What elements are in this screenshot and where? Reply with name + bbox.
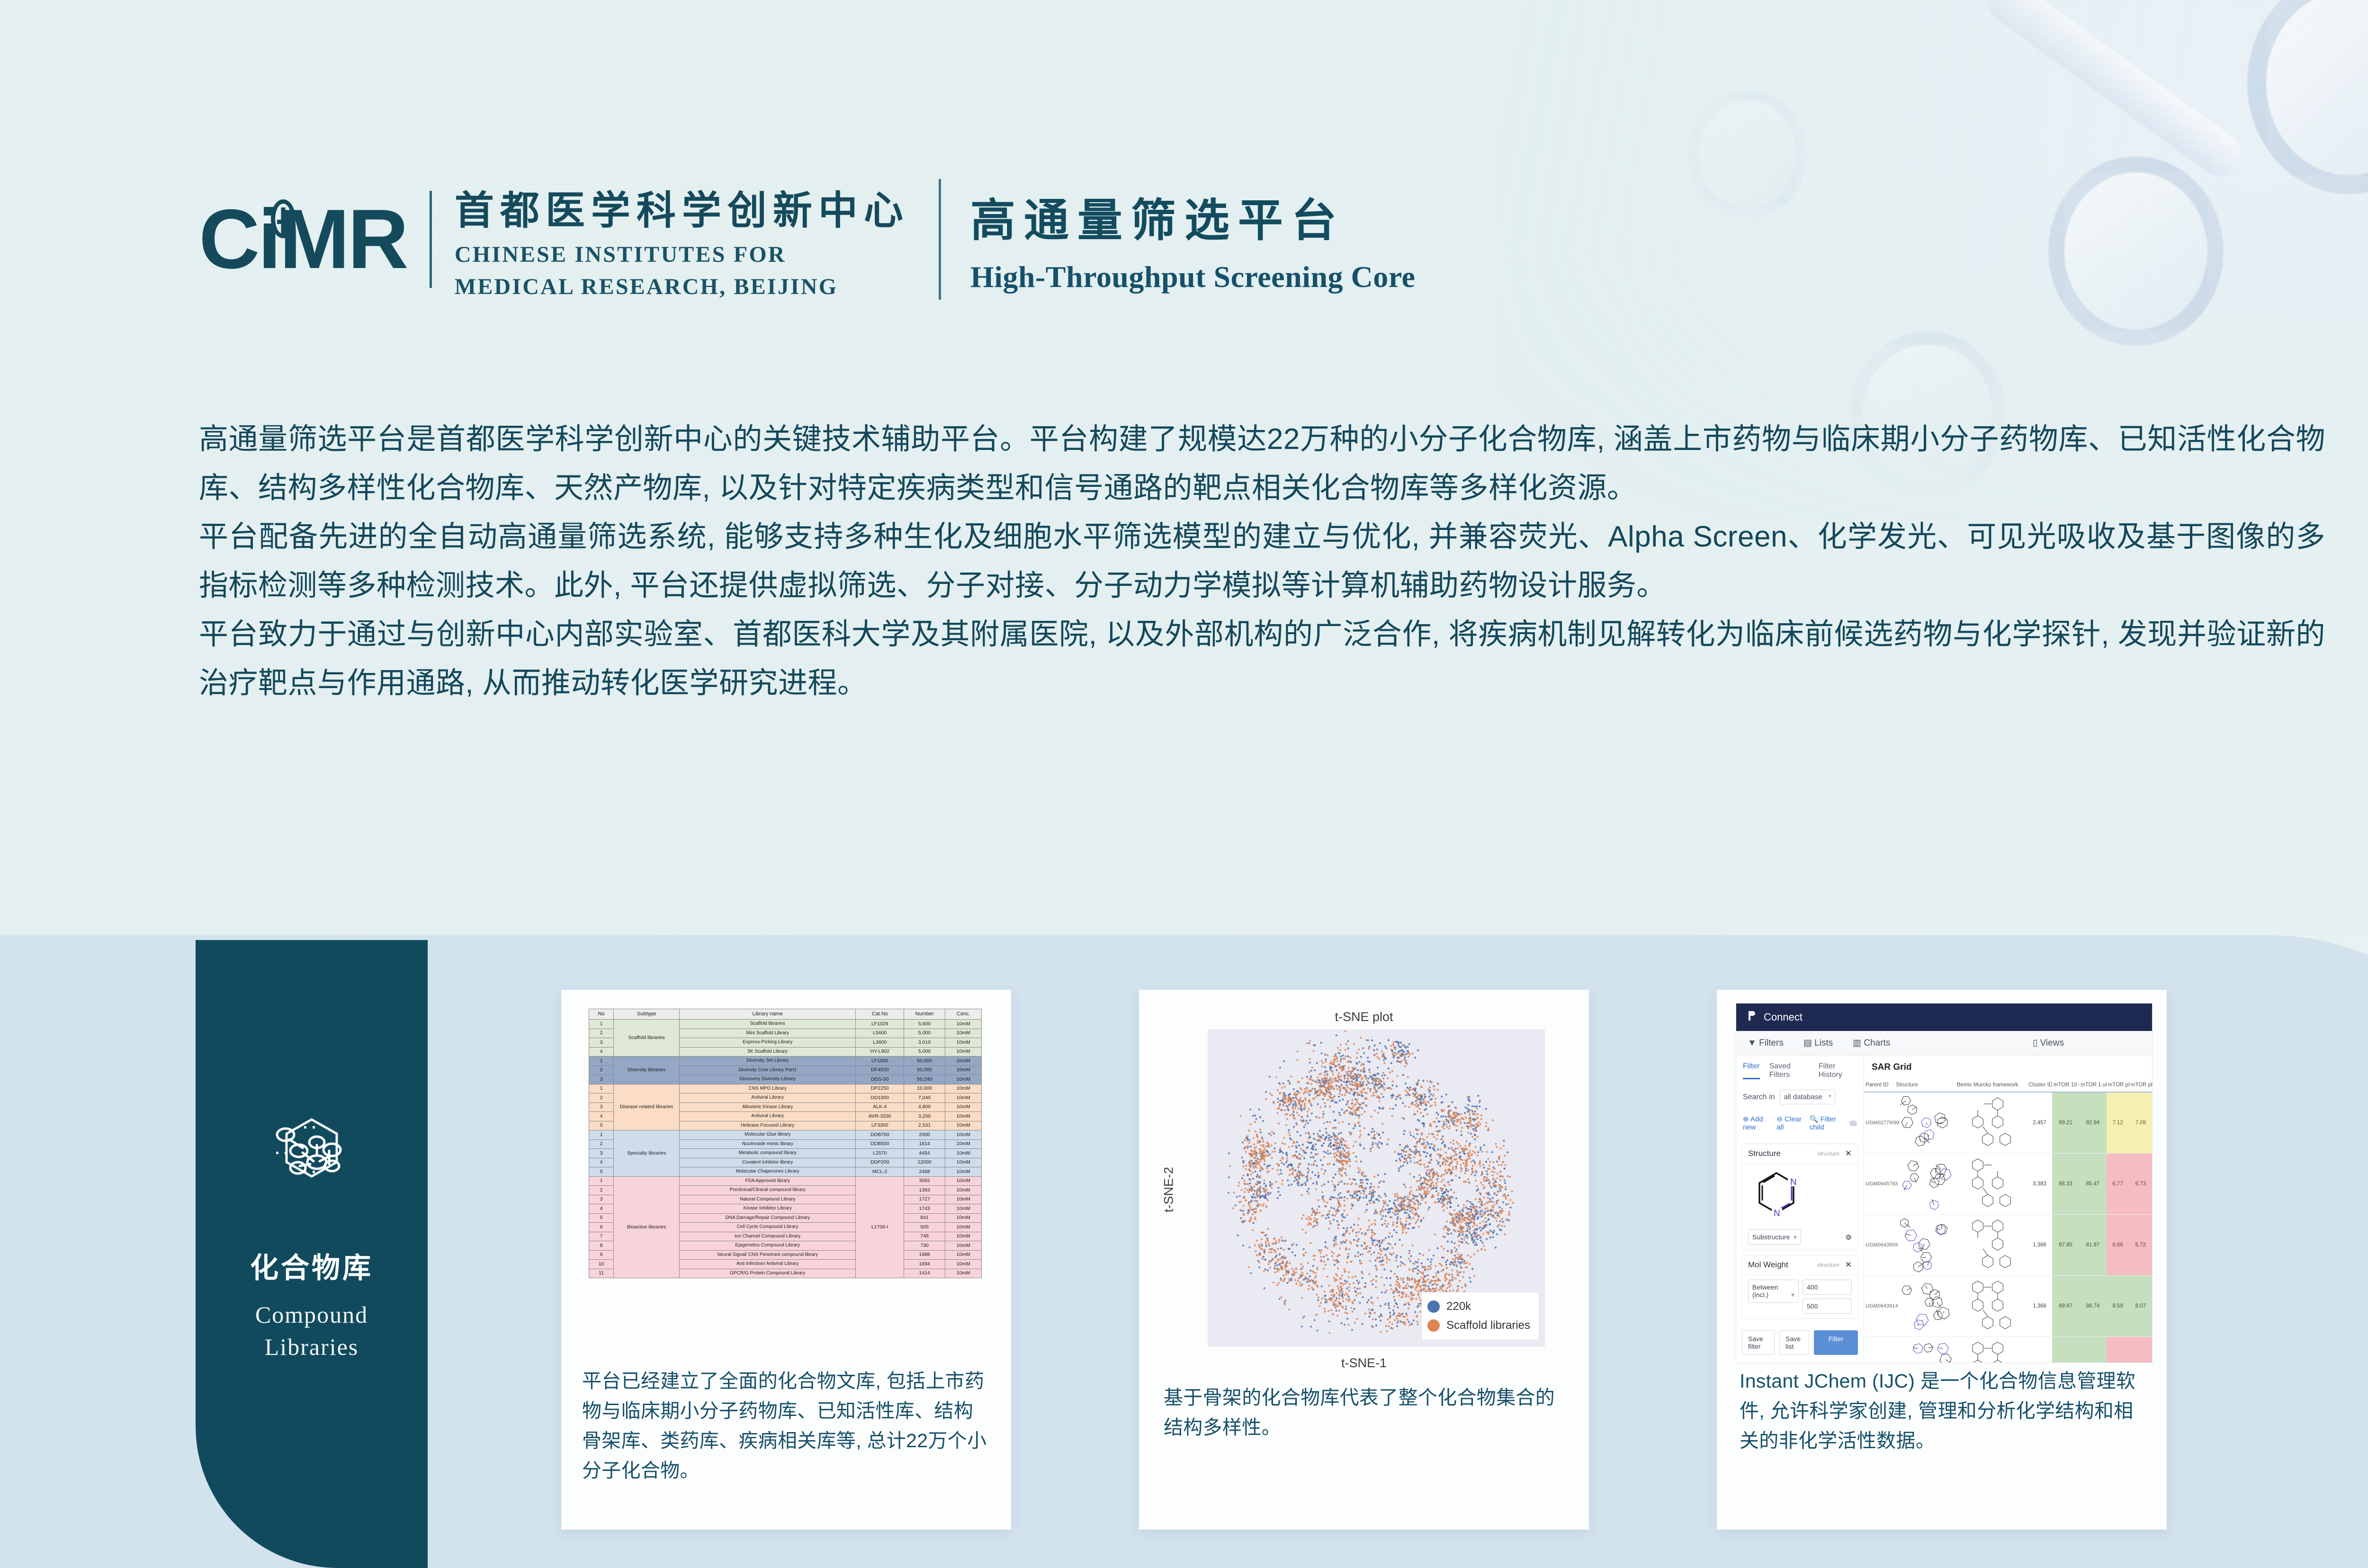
table-cell: Epigenetics Compound Library bbox=[680, 1241, 856, 1251]
table-cell: 2 bbox=[589, 1186, 614, 1195]
sar-cell-mtor10: 97.85 bbox=[2052, 1215, 2079, 1276]
close-icon[interactable]: ✕ bbox=[1845, 1149, 1852, 1158]
molecule-hexagon-icon bbox=[257, 1112, 366, 1204]
table-cell: Kinase Inhibitor Library bbox=[680, 1204, 856, 1214]
table-col-0: No bbox=[589, 1009, 614, 1020]
chart-title: t-SNE plot bbox=[1175, 1010, 1553, 1024]
gear-icon[interactable]: ⚙ bbox=[1846, 1233, 1852, 1242]
table-cell: 10mM bbox=[945, 1167, 982, 1177]
app-name-label: Connect bbox=[1764, 1011, 1803, 1023]
institute-name-en-line1: CHINESE INSTITUTES FOR bbox=[455, 242, 909, 268]
sar-cell-structure bbox=[1894, 1215, 1955, 1276]
table-cell: 4 bbox=[589, 1204, 614, 1214]
table-cell: 10mM bbox=[945, 1130, 982, 1140]
cimr-logo: CiMR 首都医学科学创新中心 CHINESE INSTITUTES FOR M… bbox=[199, 179, 909, 300]
table-cell: 10mM bbox=[945, 1112, 982, 1121]
page-header: CiMR 首都医学科学创新中心 CHINESE INSTITUTES FOR M… bbox=[199, 168, 1415, 310]
filter-buttons: Save filter Save list Filter bbox=[1736, 1324, 1864, 1362]
svg-text:N: N bbox=[1790, 1177, 1797, 1187]
platform-title-cn: 高通量筛选平台 bbox=[970, 184, 1416, 249]
views-device-icon: ▯ bbox=[2033, 1038, 2040, 1048]
table-cell: 10mM bbox=[945, 1121, 982, 1130]
table-cell: 50,240 bbox=[904, 1075, 945, 1084]
app-toolbar: ▼ Filters ▤ Lists ▥ Charts ▯ Views bbox=[1736, 1031, 2152, 1056]
chevron-down-icon: ▾ bbox=[1791, 1291, 1794, 1299]
table-cell: Scaffold libraries bbox=[614, 1020, 680, 1057]
sar-cell-pki: 6.73 bbox=[2129, 1154, 2152, 1215]
table-cell: 10mM bbox=[945, 1057, 982, 1066]
table-cell: LF3300 bbox=[856, 1121, 904, 1130]
table-cell: L5600 bbox=[856, 1029, 904, 1038]
table-cell: 1 bbox=[589, 1057, 614, 1066]
table-cell: Diversity Core Library Part1 bbox=[680, 1066, 856, 1075]
add-new-label: Add new bbox=[1743, 1115, 1763, 1131]
structure-filter-title: Structure bbox=[1748, 1149, 1781, 1158]
structure-mode-value: Substructure bbox=[1752, 1233, 1790, 1241]
sar-cell-structure bbox=[1894, 1276, 1955, 1337]
sar-col-2: Bemis Murcko framework bbox=[1955, 1078, 2027, 1092]
table-cell: Natural Compound Library bbox=[680, 1195, 856, 1204]
table-cell: 5K Scaffold Library bbox=[680, 1047, 856, 1057]
table-cell: 4 bbox=[589, 1158, 614, 1167]
table-cell: 50,000 bbox=[904, 1057, 945, 1066]
table-cell: 8 bbox=[589, 1241, 614, 1251]
filter-funnel-icon: ▼ bbox=[1748, 1038, 1759, 1048]
table-cell: Ion Channel Compound Library bbox=[680, 1232, 856, 1241]
table-cell: HY-L902 bbox=[856, 1047, 904, 1057]
sar-cell-pki: 6.72 bbox=[2129, 1215, 2152, 1276]
structure-mode-row: Substructure ▾ ⚙ bbox=[1742, 1225, 1857, 1250]
table-cell: 10mM bbox=[945, 1232, 982, 1241]
sar-cell-structure bbox=[1894, 1337, 1955, 1363]
sar-grid-row[interactable]: UGM06431702,37693.2465.076.386.26 bbox=[1864, 1337, 2152, 1363]
structure-filter-type: structure bbox=[1817, 1150, 1839, 1157]
table-cell: 841 bbox=[904, 1213, 945, 1223]
sar-cell-parent-id: UGM0945783 bbox=[1864, 1154, 1894, 1215]
molweight-operator-value: Between (incl.) bbox=[1752, 1283, 1778, 1299]
toolbar-label-filters: Filters bbox=[1759, 1038, 1784, 1048]
table-cell: Molecular Glue library bbox=[680, 1130, 856, 1140]
table-cell: 2 bbox=[589, 1093, 614, 1103]
table-cell: 730 bbox=[904, 1241, 945, 1251]
table-cell: 4,800 bbox=[904, 1102, 945, 1112]
sidebar-title-en-line1: Compound bbox=[255, 1299, 368, 1331]
table-cell: 10mM bbox=[945, 1195, 982, 1204]
app-title-bar: Connect bbox=[1736, 1004, 2152, 1031]
sar-cell-pic5: 7.12 bbox=[2107, 1092, 2129, 1154]
sar-col-7: mTOR pKi bbox=[2129, 1078, 2152, 1092]
table-col-1: Subtype bbox=[614, 1009, 680, 1020]
institute-name-en-line2: MEDICAL RESEARCH, BEIJING bbox=[455, 274, 909, 300]
table-cell: 10mM bbox=[945, 1223, 982, 1232]
intro-text: 高通量筛选平台是首都医学科学创新中心的关键技术辅助平台。平台构建了规模达22万种… bbox=[199, 415, 2325, 708]
table-cell: 6 bbox=[589, 1223, 614, 1232]
table-cell: 10mM bbox=[945, 1250, 982, 1260]
table-cell: 10mM bbox=[945, 1158, 982, 1167]
sar-cell-mtor1: 85.47 bbox=[2079, 1154, 2106, 1215]
table-cell: Diversity libraries bbox=[614, 1057, 680, 1084]
card-tsne-plot: t-SNE plot t-SNE-2 220k Scaffold librari… bbox=[1139, 990, 1589, 1530]
table-cell: MCL-2 bbox=[856, 1167, 904, 1177]
table-cell: Bioactive libraries bbox=[614, 1176, 680, 1278]
sar-col-6: mTOR pIC5 bbox=[2107, 1078, 2129, 1092]
connect-logo-icon bbox=[1747, 1010, 1757, 1024]
toolbar-label-lists: Lists bbox=[1814, 1038, 1833, 1048]
sar-cell-cluster-id: 2,376 bbox=[2027, 1337, 2052, 1363]
compound-library-table: NoSubtypeLibrary nameCat.NoNumberConc. 1… bbox=[589, 1009, 982, 1278]
sar-cell-mtor10: 99.21 bbox=[2052, 1092, 2079, 1154]
table-cell: 1743 bbox=[904, 1204, 945, 1214]
sar-cell-framework bbox=[1955, 1092, 2027, 1154]
card-instant-jchem: Connect ▼ Filters ▤ Lists ▥ Charts ▯ Vie… bbox=[1717, 990, 2167, 1530]
sar-cell-structure bbox=[1894, 1092, 1955, 1154]
sar-cell-mtor1: 92.94 bbox=[2079, 1092, 2106, 1154]
table-cell: 5,000 bbox=[904, 1047, 945, 1057]
table-cell: 5 bbox=[589, 1167, 614, 1177]
table-cell: LF1029 bbox=[856, 1020, 904, 1029]
table-cell: 7,040 bbox=[904, 1093, 945, 1103]
legend-swatch-220k bbox=[1427, 1300, 1440, 1313]
table-cell: 10mM bbox=[945, 1186, 982, 1195]
table-cell: FDA Approved library bbox=[680, 1176, 856, 1186]
table-cell: 3,200 bbox=[904, 1112, 945, 1121]
table-cell: Discovery Diversity Library bbox=[680, 1075, 856, 1084]
table-cell: 10mM bbox=[945, 1149, 982, 1158]
sar-col-5: mTOR 1 uM in bbox=[2079, 1078, 2106, 1092]
table-cell: 10mM bbox=[945, 1241, 982, 1251]
table-cell: Allosteric Kinase Library bbox=[680, 1102, 856, 1112]
table-cell: 1 bbox=[589, 1020, 614, 1029]
table-cell: 2 bbox=[589, 1066, 614, 1075]
sar-grid-row[interactable]: UGM09457833,38398.3385.476.776.73 bbox=[1864, 1154, 2152, 1215]
cimr-wordmark: CiMR bbox=[199, 202, 407, 277]
header-divider bbox=[939, 179, 941, 300]
table-cell: 10mM bbox=[945, 1038, 982, 1048]
legend-item: 220k bbox=[1427, 1297, 1530, 1316]
intro-paragraph-2: 平台配备先进的全自动高通量筛选系统, 能够支持多种生化及细胞水平筛选模型的建立与… bbox=[199, 512, 2325, 610]
table-cell: 3 bbox=[589, 1038, 614, 1048]
molweight-inputs: 400 500 bbox=[1803, 1280, 1852, 1314]
table-cell: 10mM bbox=[945, 1066, 982, 1075]
chevron-down-icon: ▾ bbox=[1829, 1093, 1831, 1099]
table-cell: 10mM bbox=[945, 1084, 982, 1093]
platform-title-en: High-Throughput Screening Core bbox=[970, 260, 1416, 295]
sar-cell-pic5: 8.59 bbox=[2107, 1276, 2129, 1337]
bar-chart-icon: ▥ bbox=[1853, 1038, 1864, 1048]
molweight-operator-select[interactable]: Between (incl.) ▾ bbox=[1748, 1280, 1799, 1303]
pyridine-structure-icon: N N bbox=[1748, 1211, 1805, 1219]
filter-actions: ⊕ Add new ⊖ Clear all 🔍 Filter child bbox=[1736, 1107, 1864, 1139]
filter-sidebar: Filter Saved Filters Filter History Sear… bbox=[1736, 1056, 1864, 1363]
table-row: 1Scaffold librariesScaffold librariesLF1… bbox=[589, 1020, 982, 1029]
sidebar-title-cn: 化合物库 bbox=[250, 1245, 373, 1286]
table-cell: DDP200 bbox=[856, 1158, 904, 1167]
table-cell: 10mM bbox=[945, 1075, 982, 1084]
list-icon: ▤ bbox=[1803, 1038, 1814, 1048]
structure-filter-card: Structure structure ✕ bbox=[1742, 1144, 1858, 1250]
table-cell: Covalent inhibitor library bbox=[680, 1158, 856, 1167]
filter-tabs: Filter Saved Filters Filter History bbox=[1736, 1056, 1864, 1079]
chart-y-axis-label: t-SNE-2 bbox=[1162, 1167, 1176, 1212]
sidebar-title-en: Compound Libraries bbox=[255, 1299, 368, 1363]
table-cell: DF4500 bbox=[856, 1066, 904, 1075]
table-cell: 10mM bbox=[945, 1269, 982, 1278]
sar-cell-parent-id: UGM0643914 bbox=[1864, 1276, 1894, 1337]
table-cell: 1414 bbox=[904, 1269, 945, 1278]
table-header-row: NoSubtypeLibrary nameCat.NoNumberConc. bbox=[589, 1009, 982, 1020]
institute-names: 首都医学科学创新中心 CHINESE INSTITUTES FOR MEDICA… bbox=[455, 179, 909, 300]
table-cell: Mini Scaffold Library bbox=[680, 1029, 856, 1038]
card-caption: 平台已经建立了全面的化合物文库, 包括上市药物与临床期小分子药物库、已知活性库、… bbox=[582, 1366, 992, 1486]
table-cell: Neural Signal/ CNS Penetrant compound li… bbox=[680, 1250, 856, 1260]
search-in-row: Search in all database ▾ bbox=[1736, 1079, 1864, 1107]
table-cell: Express-Picking Library bbox=[680, 1038, 856, 1048]
table-cell: 4 bbox=[589, 1112, 614, 1121]
table-cell: Disease related libraries bbox=[614, 1084, 680, 1130]
table-cell: Anti Infection/ Antiviral Library bbox=[680, 1260, 856, 1269]
molweight-min-input[interactable]: 400 bbox=[1803, 1280, 1852, 1295]
table-cell: AVR-3200 bbox=[856, 1112, 904, 1121]
structure-sketch-area[interactable]: N N bbox=[1742, 1164, 1857, 1225]
table-cell: 10mM bbox=[945, 1093, 982, 1103]
legend-label-220k: 220k bbox=[1446, 1297, 1471, 1316]
sar-cell-cluster-id: 3,383 bbox=[2027, 1154, 2052, 1215]
table-cell: 1 bbox=[589, 1176, 614, 1186]
sar-cell-structure bbox=[1894, 1154, 1955, 1215]
table-cell: Metabolic compound library bbox=[680, 1149, 856, 1158]
table-cell: DDB700 bbox=[856, 1130, 904, 1140]
table-cell: 50,000 bbox=[904, 1066, 945, 1075]
table-cell: DNA Damage/Repair Compound Library bbox=[680, 1213, 856, 1223]
filter-child-label: Filter child bbox=[1810, 1115, 1836, 1131]
cimr-cross-emblem-icon bbox=[271, 199, 296, 238]
molweight-filter-title: Mol Weight bbox=[1748, 1260, 1788, 1270]
toggle-switch[interactable] bbox=[1849, 1120, 1857, 1126]
save-list-button[interactable]: Save list bbox=[1779, 1330, 1809, 1355]
sar-cell-mtor10: 93.24 bbox=[2052, 1337, 2079, 1363]
sar-cell-mtor10: 99.97 bbox=[2052, 1276, 2079, 1337]
institute-name-cn: 首都医学科学创新中心 bbox=[455, 179, 909, 235]
table-cell: 5,000 bbox=[904, 1029, 945, 1038]
intro-paragraph-3: 平台致力于通过与创新中心内部实验室、首都医科大学及其附属医院, 以及外部机构的广… bbox=[199, 610, 2325, 708]
table-cell: 11 bbox=[589, 1269, 614, 1278]
table-cell: 4454 bbox=[904, 1149, 945, 1158]
card-caption: 基于骨架的化合物库代表了整个化合物集合的结构多样性。 bbox=[1164, 1383, 1564, 1443]
app-body: Filter Saved Filters Filter History Sear… bbox=[1736, 1056, 2152, 1363]
table-cell: 3 bbox=[589, 1075, 614, 1084]
table-cell: 3,010 bbox=[904, 1038, 945, 1048]
table-cell: 748 bbox=[904, 1232, 945, 1241]
sar-cell-framework bbox=[1955, 1276, 2027, 1337]
chart-legend: 220k Scaffold libraries bbox=[1421, 1292, 1539, 1340]
table-cell: Antiviral Library bbox=[680, 1112, 856, 1121]
toolbar-item-filters[interactable]: ▼ Filters bbox=[1748, 1038, 1784, 1048]
table-cell: 505 bbox=[904, 1223, 945, 1232]
sar-col-1: Structure bbox=[1894, 1078, 1955, 1092]
sar-cell-pic5: 6.38 bbox=[2107, 1337, 2129, 1363]
sar-grid-title: SAR Grid bbox=[1864, 1056, 2152, 1078]
table-cell: DP2250 bbox=[856, 1084, 904, 1093]
toolbar-item-charts[interactable]: ▥ Charts bbox=[1853, 1038, 1890, 1048]
sar-cell-mtor10: 98.33 bbox=[2052, 1154, 2079, 1215]
toolbar-label-charts: Charts bbox=[1864, 1038, 1890, 1048]
sar-cell-framework bbox=[1955, 1337, 2027, 1363]
table-cell: 1393 bbox=[904, 1186, 945, 1195]
table-cell: Scaffold libraries bbox=[680, 1020, 856, 1029]
table-col-5: Conc. bbox=[945, 1009, 982, 1020]
instant-jchem-screenshot: Connect ▼ Filters ▤ Lists ▥ Charts ▯ Vie… bbox=[1736, 1003, 2153, 1363]
table-cell: Specialty libraries bbox=[614, 1130, 680, 1177]
table-cell: 3 bbox=[589, 1149, 614, 1158]
molweight-range-row: Between (incl.) ▾ 400 500 bbox=[1742, 1275, 1857, 1318]
sar-cell-cluster-id: 1,366 bbox=[2027, 1276, 2052, 1337]
table-cell: Molecular Chaperones Library bbox=[680, 1167, 856, 1177]
database-select-value: all database bbox=[1784, 1093, 1822, 1101]
table-cell: Helicase Focused Library bbox=[680, 1121, 856, 1130]
add-new-button[interactable]: ⊕ Add new bbox=[1743, 1115, 1769, 1131]
tab-filter[interactable]: Filter bbox=[1743, 1062, 1760, 1079]
database-select[interactable]: all database ▾ bbox=[1780, 1090, 1835, 1104]
toolbar-item-views[interactable]: ▯ Views bbox=[2033, 1038, 2064, 1048]
sidebar-compound-libraries: 化合物库 Compound Libraries bbox=[196, 940, 428, 1568]
table-cell: DDB500 bbox=[856, 1139, 904, 1149]
filter-child-button[interactable]: 🔍 Filter child bbox=[1810, 1115, 1842, 1131]
chart-plot-area: 220k Scaffold libraries bbox=[1208, 1030, 1545, 1347]
cimr-wordmark-text: CiMR bbox=[199, 192, 407, 286]
table-cell: GPCR/G Protein Compound Library bbox=[680, 1269, 856, 1278]
table-cell: 2468 bbox=[904, 1167, 945, 1177]
legend-item: Scaffold libraries bbox=[1427, 1316, 1530, 1335]
save-filter-button[interactable]: Save filter bbox=[1742, 1330, 1775, 1355]
table-cell: 10mM bbox=[945, 1260, 982, 1269]
tab-saved-filters[interactable]: Saved Filters bbox=[1769, 1062, 1809, 1079]
table-cell: 1 bbox=[589, 1130, 614, 1140]
table-cell: 5,600 bbox=[904, 1020, 945, 1029]
table-cell: 4 bbox=[589, 1047, 614, 1057]
table-cell: 10,000 bbox=[904, 1084, 945, 1093]
sar-col-3: Cluster ID bbox=[2027, 1078, 2052, 1092]
table-cell: 1 bbox=[589, 1084, 614, 1093]
molweight-filter-header: Mol Weight structure ✕ bbox=[1742, 1255, 1857, 1275]
table-cell: 10mM bbox=[945, 1020, 982, 1029]
sar-cell-pki: 7.09 bbox=[2129, 1092, 2152, 1154]
sar-cell-mtor1: 81.97 bbox=[2079, 1215, 2106, 1276]
sar-cell-mtor1: 65.07 bbox=[2079, 1337, 2106, 1363]
table-cell: Nucleoside mimic library bbox=[680, 1139, 856, 1149]
clear-all-label: Clear all bbox=[1776, 1115, 1802, 1131]
table-cell: DDS-50 bbox=[856, 1075, 904, 1084]
sar-col-0: Parent ID bbox=[1864, 1078, 1894, 1092]
sar-grid-panel: SAR Grid Parent IDStructureBemis Murcko … bbox=[1864, 1056, 2152, 1363]
table-cell: 10mM bbox=[945, 1047, 982, 1057]
clear-all-button[interactable]: ⊖ Clear all bbox=[1776, 1115, 1802, 1131]
table-cell: 2 bbox=[589, 1139, 614, 1149]
sidebar-title-en-line2: Libraries bbox=[255, 1331, 368, 1363]
molweight-filter-type: structure bbox=[1817, 1262, 1839, 1268]
table-cell: ALK-4 bbox=[856, 1102, 904, 1112]
legend-label-scaffold: Scaffold libraries bbox=[1446, 1316, 1530, 1335]
table-cell: 10 bbox=[589, 1260, 614, 1269]
structure-filter-header: Structure structure ✕ bbox=[1742, 1144, 1857, 1164]
molweight-max-input[interactable]: 500 bbox=[1803, 1299, 1852, 1314]
table-cell: Antiviral Library bbox=[680, 1093, 856, 1103]
chevron-down-icon: ▾ bbox=[1794, 1233, 1797, 1241]
sar-cell-pki: 6.26 bbox=[2129, 1337, 2152, 1363]
close-icon[interactable]: ✕ bbox=[1845, 1260, 1852, 1270]
table-cell: 3062 bbox=[904, 1176, 945, 1186]
table-cell: L2570 bbox=[856, 1149, 904, 1158]
table-cell: 10mM bbox=[945, 1029, 982, 1038]
chart-x-axis-label: t-SNE-1 bbox=[1175, 1356, 1553, 1371]
table-col-3: Cat.No bbox=[856, 1009, 904, 1020]
sar-cell-framework bbox=[1955, 1215, 2027, 1276]
tab-filter-history[interactable]: Filter History bbox=[1819, 1062, 1857, 1079]
table-cell: 2 bbox=[589, 1029, 614, 1038]
table-cell: 10mM bbox=[945, 1204, 982, 1214]
table-cell: 5 bbox=[589, 1213, 614, 1223]
table-cell: CNS MPO Library bbox=[680, 1084, 856, 1093]
intro-paragraph-1: 高通量筛选平台是首都医学科学创新中心的关键技术辅助平台。平台构建了规模达22万种… bbox=[199, 415, 2325, 512]
table-cell: 1727 bbox=[904, 1195, 945, 1204]
table-cell: 10mM bbox=[945, 1139, 982, 1149]
sar-cell-pic5: 6.66 bbox=[2107, 1215, 2129, 1276]
table-row: 1Disease related librariesCNS MPO Librar… bbox=[589, 1084, 982, 1093]
legend-swatch-scaffold bbox=[1427, 1319, 1440, 1332]
search-in-label: Search in bbox=[1743, 1093, 1775, 1102]
sar-grid-table: Parent IDStructureBemis Murcko framework… bbox=[1864, 1078, 2152, 1363]
table-cell: L3600 bbox=[856, 1038, 904, 1048]
filter-button[interactable]: Filter bbox=[1814, 1330, 1858, 1355]
toolbar-item-lists[interactable]: ▤ Lists bbox=[1803, 1038, 1833, 1048]
table-cell: Preclinical/Clinical compound library bbox=[680, 1186, 856, 1195]
toolbar-label-views: Views bbox=[2040, 1038, 2064, 1048]
table-cell: 10mM bbox=[945, 1176, 982, 1186]
table-cell: 12000 bbox=[904, 1158, 945, 1167]
table-row: 1Bioactive librariesFDA Approved library… bbox=[589, 1176, 982, 1186]
molweight-filter-card: Mol Weight structure ✕ Between (incl.) ▾… bbox=[1742, 1255, 1858, 1319]
sar-cell-cluster-id: 2,457 bbox=[2027, 1092, 2052, 1154]
table-col-4: Number bbox=[904, 1009, 945, 1020]
sar-col-4: mTOR 10 uM i bbox=[2052, 1078, 2079, 1092]
table-cell: Cell Cycle Compound Library bbox=[680, 1223, 856, 1232]
table-cell: 10mM bbox=[945, 1102, 982, 1112]
sar-grid-row[interactable]: UGM06439591,36697.8581.976.666.72 bbox=[1864, 1215, 2152, 1276]
table-cell: Diversity Set Library bbox=[680, 1057, 856, 1066]
sar-cell-parent-id: UGM0643959 bbox=[1864, 1215, 1894, 1276]
sar-grid-header-row: Parent IDStructureBemis Murcko framework… bbox=[1864, 1078, 2152, 1092]
table-cell: 2,531 bbox=[904, 1121, 945, 1130]
structure-mode-select[interactable]: Substructure ▾ bbox=[1748, 1229, 1801, 1245]
card-caption: Instant JChem (IJC) 是一个化合物信息管理软件, 允许科学家创… bbox=[1740, 1366, 2149, 1456]
table-col-2: Library name bbox=[680, 1009, 856, 1020]
sar-cell-parent-id: UGM0643170 bbox=[1864, 1337, 1894, 1363]
sar-cell-cluster-id: 1,366 bbox=[2027, 1215, 2052, 1276]
sar-cell-parent-id: UGM02779/99 bbox=[1864, 1092, 1894, 1154]
table-cell: 3 bbox=[589, 1195, 614, 1204]
table-cell: 5 bbox=[589, 1121, 614, 1130]
sar-cell-pki: 8.07 bbox=[2129, 1276, 2152, 1337]
platform-title-block: 高通量筛选平台 High-Throughput Screening Core bbox=[970, 184, 1416, 295]
sar-grid-row[interactable]: UGM06439141,36699.9798.748.598.07 bbox=[1864, 1276, 2152, 1337]
table-cell: 7 bbox=[589, 1232, 614, 1241]
table-row: 1Diversity librariesDiversity Set Librar… bbox=[589, 1057, 982, 1066]
table-cell: L1700-I bbox=[856, 1176, 904, 1278]
table-cell: 10mM bbox=[945, 1213, 982, 1223]
logo-divider bbox=[430, 191, 432, 288]
sar-grid-row[interactable]: UGM02779/992,45799.2192.947.127.09 bbox=[1864, 1092, 2152, 1154]
table-cell: 1814 bbox=[904, 1139, 945, 1149]
table-cell: DD1000 bbox=[856, 1093, 904, 1103]
